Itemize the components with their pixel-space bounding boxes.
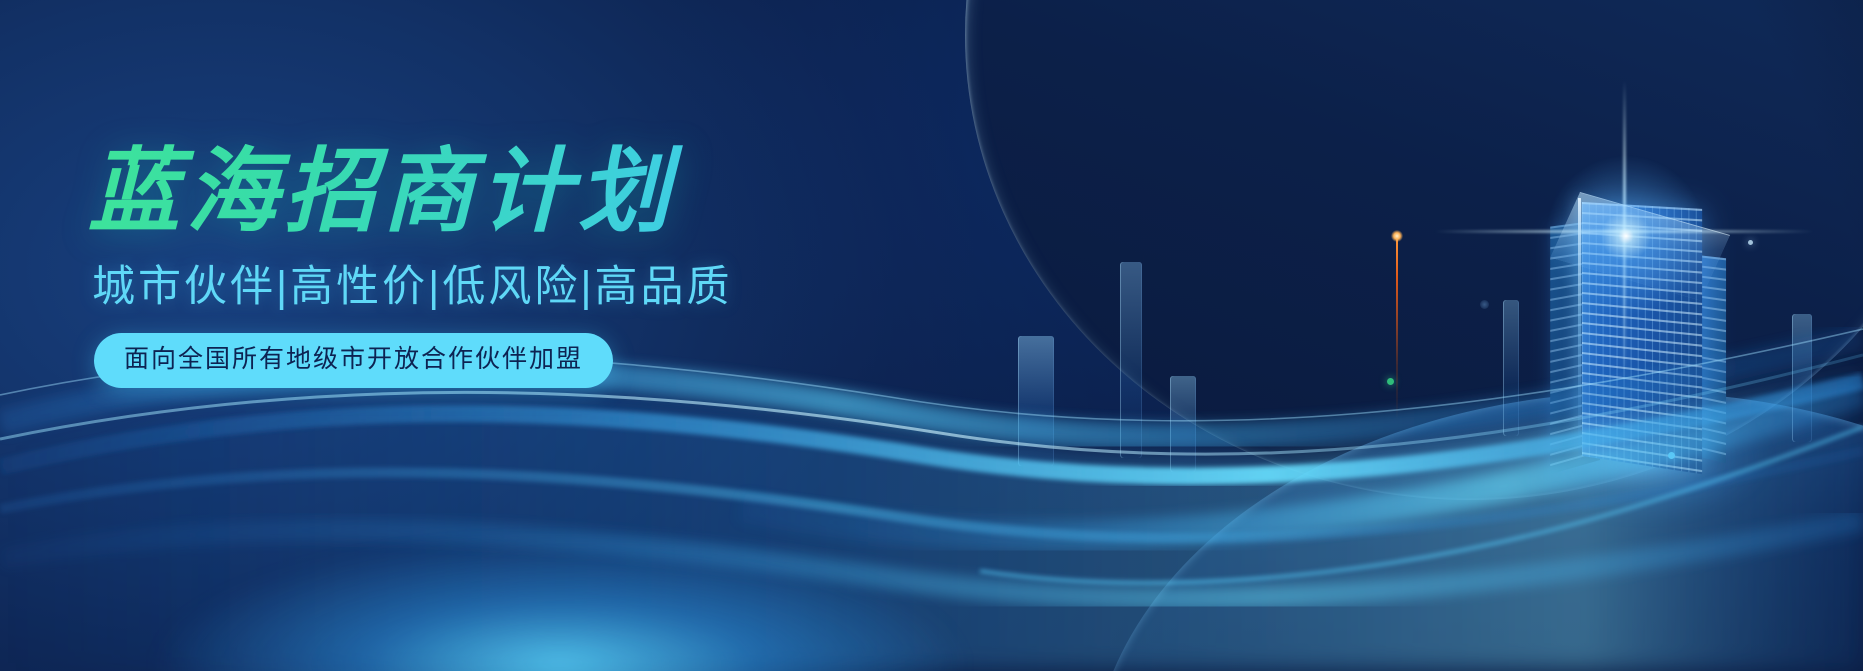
bottom-light-glow [150,539,970,671]
antenna-tip-icon [1391,230,1403,242]
banner-title: 蓝海招商计划 [88,144,848,242]
banner-subtitle: 城市伙伴|高性价|低风险|高品质 [92,264,848,311]
dot-white [1748,240,1753,245]
banner-badge[interactable]: 面向全国所有地级市开放合作伙伴加盟 [94,333,613,388]
promo-banner: 蓝海招商计划 城市伙伴|高性价|低风险|高品质 面向全国所有地级市开放合作伙伴加… [0,0,1863,671]
banner-content: 蓝海招商计划 城市伙伴|高性价|低风险|高品质 面向全国所有地级市开放合作伙伴加… [88,144,848,388]
